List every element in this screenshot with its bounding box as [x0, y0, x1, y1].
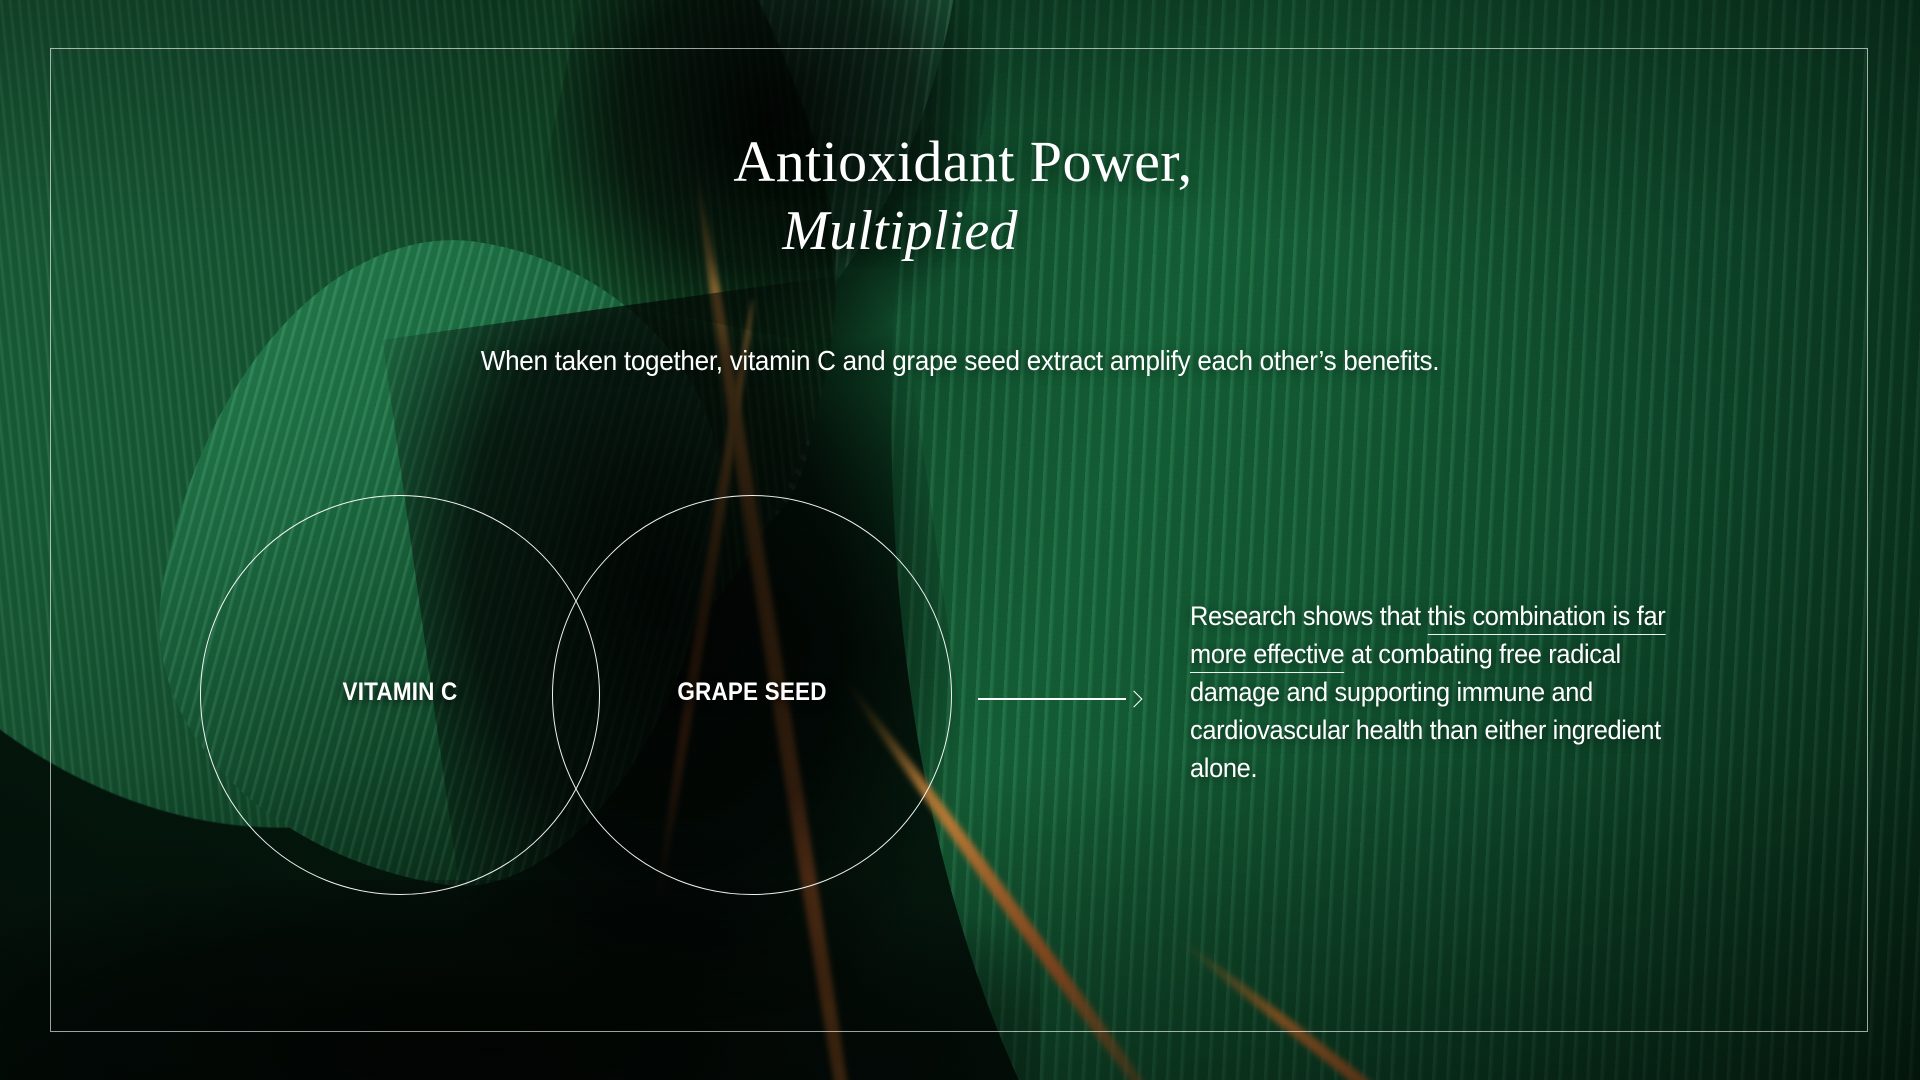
venn-label-vitamin-c: VITAMIN C — [301, 678, 499, 707]
research-body-text: Research shows that this combination is … — [1190, 597, 1716, 787]
page-title-line-2-italic: Multiplied — [0, 203, 1920, 259]
right-arrow-icon — [978, 692, 1140, 706]
venn-label-grape-seed: GRAPE SEED — [653, 678, 851, 707]
page-title-line-1: Antioxidant Power, — [0, 133, 1920, 191]
body-text-part-1: Research shows that — [1190, 601, 1427, 631]
page-subtitle: When taken together, vitamin C and grape… — [67, 345, 1853, 377]
page-title: Antioxidant Power, Multiplied — [0, 133, 1920, 259]
venn-diagram: VITAMIN C GRAPE SEED — [200, 495, 952, 897]
arrow-head — [1126, 691, 1143, 708]
arrow-shaft — [978, 698, 1126, 700]
slide-canvas: Antioxidant Power, Multiplied When taken… — [0, 0, 1920, 1080]
